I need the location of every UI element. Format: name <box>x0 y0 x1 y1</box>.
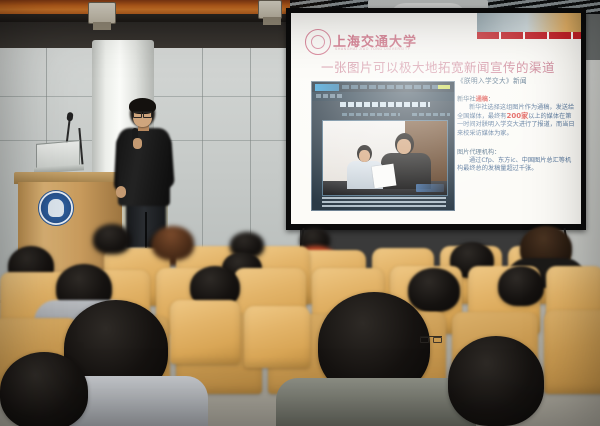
audience-head-foreground <box>448 336 544 426</box>
site-subline-left <box>342 113 400 116</box>
slide-section1-body: 新华社选择这组图片作为通稿，发送给全国媒体，最终有200家以上的媒体在第一时间对… <box>457 104 575 138</box>
ceiling-speaker-icon <box>88 2 116 24</box>
audience-head <box>152 226 194 260</box>
university-crest-icon <box>38 190 74 226</box>
site-logo-icon <box>315 84 339 91</box>
presenter-hand <box>133 138 142 149</box>
section1-number: 200家 <box>507 112 529 120</box>
wall-seam <box>154 96 300 97</box>
university-name-en: SHANGHAI JIAO TONG UNIVERSITY <box>335 47 411 51</box>
lecture-hall-photo: 上海交通大学 SHANGHAI JIAO TONG UNIVERSITY 一张图… <box>0 0 600 426</box>
site-headline <box>340 102 430 107</box>
slide-section2-label: 图片代理机构： <box>457 147 575 156</box>
news-photo <box>322 120 448 196</box>
section1-highlight: 通稿 <box>476 96 488 103</box>
section1-label-text: 新华社 <box>457 96 476 103</box>
glasses-icon <box>420 336 442 341</box>
auditorium-seat <box>170 300 240 364</box>
ceiling-speaker-icon <box>258 0 282 19</box>
section1-colon: ： <box>488 96 494 103</box>
wall-seam <box>0 96 92 97</box>
audience-head <box>408 268 460 312</box>
glasses-icon <box>133 111 152 116</box>
audience-head <box>93 224 131 254</box>
projection-screen: 上海交通大学 SHANGHAI JIAO TONG UNIVERSITY 一张图… <box>291 13 581 224</box>
slide-banner-tabs <box>477 32 581 39</box>
auditorium-seat <box>544 310 600 394</box>
site-subline-right <box>412 113 450 116</box>
news-site-screenshot <box>311 81 455 211</box>
audience-head-foreground <box>0 352 88 426</box>
audience-head <box>498 266 544 306</box>
slide-section1-label: 新华社通稿： <box>457 94 575 103</box>
site-caption-text <box>322 197 446 207</box>
site-menu <box>342 85 450 89</box>
slide-news-heading: 《朕明入学交大》新闻 <box>457 75 575 85</box>
sjtu-seal-icon <box>305 29 331 55</box>
site-breadcrumb <box>316 94 342 98</box>
slide-banner-photo <box>477 13 581 32</box>
auditorium-seat <box>244 306 310 368</box>
presenter-leg-gap <box>145 212 147 248</box>
photo-person-right-face <box>397 139 411 154</box>
presenter-hand <box>116 186 126 198</box>
photo-watermark <box>416 184 444 192</box>
photo-document <box>372 164 397 189</box>
wall-seam <box>154 140 300 141</box>
slide-title: 一张图片可以极大地拓宽新闻宣传的渠道 <box>307 57 569 76</box>
slide-section2-body: 通过Cfp、东方ic、中国图片总汇等机构最终总的发稿量超过千张。 <box>457 157 575 173</box>
slide-text-column: 《朕明入学交大》新闻 新华社通稿： 新华社选择这组图片作为通稿，发送给全国媒体，… <box>457 75 575 173</box>
presentation-slide: 上海交通大学 SHANGHAI JIAO TONG UNIVERSITY 一张图… <box>291 13 581 224</box>
site-menu-highlight <box>438 85 450 89</box>
photo-person-left-face <box>359 150 370 162</box>
audience-shoulders-foreground <box>276 378 476 426</box>
